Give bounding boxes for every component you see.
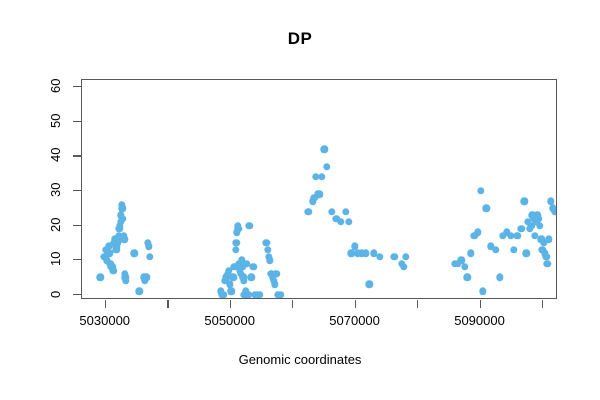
x-tick-mark xyxy=(167,300,168,308)
data-point xyxy=(246,222,253,229)
data-point xyxy=(545,236,552,243)
y-tick-mark xyxy=(73,294,81,295)
y-tick-label: 50 xyxy=(48,105,64,137)
data-point xyxy=(521,198,528,205)
y-tick-mark xyxy=(73,259,81,260)
y-tick-mark xyxy=(73,86,81,87)
data-point xyxy=(232,246,239,253)
y-tick-label: 40 xyxy=(48,139,64,171)
y-tick-label: 0 xyxy=(48,278,64,310)
x-tick-mark xyxy=(542,300,543,308)
data-point xyxy=(271,281,278,288)
x-axis-label: Genomic coordinates xyxy=(0,352,600,367)
data-point xyxy=(362,250,369,257)
data-point xyxy=(273,270,280,277)
x-tick-mark xyxy=(230,300,231,308)
data-point xyxy=(514,232,521,239)
data-point xyxy=(345,218,352,225)
data-point xyxy=(228,288,235,295)
x-tick-label: 5070000 xyxy=(310,313,400,328)
data-point xyxy=(474,229,481,236)
data-point xyxy=(536,222,543,229)
x-tick-mark xyxy=(417,300,418,308)
data-point xyxy=(391,253,398,260)
y-tick-mark xyxy=(73,225,81,226)
data-point xyxy=(477,187,484,194)
y-tick-mark xyxy=(73,121,81,122)
data-point xyxy=(143,274,150,281)
x-tick-mark xyxy=(105,300,106,308)
data-point xyxy=(467,250,474,257)
y-tick-mark xyxy=(73,190,81,191)
data-point xyxy=(240,277,247,284)
data-point xyxy=(479,288,486,295)
data-point xyxy=(119,204,126,211)
data-point xyxy=(522,250,529,257)
data-point xyxy=(266,256,273,263)
x-tick-label: 5050000 xyxy=(185,313,275,328)
data-point xyxy=(464,274,471,281)
x-tick-mark xyxy=(480,300,481,308)
data-point xyxy=(304,208,311,215)
data-point xyxy=(110,267,117,274)
data-point xyxy=(136,288,143,295)
data-point xyxy=(145,243,152,250)
plot-area xyxy=(81,79,557,299)
y-tick-label: 20 xyxy=(48,209,64,241)
data-point xyxy=(376,253,383,260)
data-point xyxy=(248,274,255,281)
data-point xyxy=(131,250,138,257)
data-point xyxy=(510,246,517,253)
data-point xyxy=(482,204,489,211)
data-point xyxy=(337,218,344,225)
data-point xyxy=(249,263,256,270)
data-point xyxy=(122,277,129,284)
y-tick-mark xyxy=(73,155,81,156)
page-title: DP xyxy=(0,29,600,49)
x-tick-mark xyxy=(355,300,356,308)
data-point xyxy=(146,253,153,260)
data-point xyxy=(551,208,557,215)
data-point xyxy=(400,263,407,270)
data-point xyxy=(256,291,263,298)
data-point xyxy=(120,236,127,243)
data-point xyxy=(316,191,323,198)
data-point xyxy=(233,239,240,246)
x-tick-label: 5030000 xyxy=(60,313,150,328)
y-tick-label: 10 xyxy=(48,243,64,275)
data-point xyxy=(96,274,103,281)
data-point xyxy=(119,215,126,222)
data-point xyxy=(496,274,503,281)
y-tick-label: 60 xyxy=(48,70,64,102)
data-point xyxy=(318,173,325,180)
data-point xyxy=(402,253,409,260)
y-tick-label: 30 xyxy=(48,174,64,206)
data-point xyxy=(342,208,349,215)
data-point xyxy=(229,274,236,281)
chart-figure: DP 0102030405060 50300005050000507000050… xyxy=(0,0,600,400)
data-point xyxy=(461,263,468,270)
x-tick-mark xyxy=(292,300,293,308)
data-point xyxy=(517,225,524,232)
data-point xyxy=(277,291,284,298)
data-point xyxy=(544,260,551,267)
data-point xyxy=(492,246,499,253)
data-point xyxy=(234,225,241,232)
data-point xyxy=(366,281,373,288)
data-point xyxy=(321,146,328,153)
x-tick-label: 5090000 xyxy=(435,313,525,328)
data-point xyxy=(323,163,330,170)
